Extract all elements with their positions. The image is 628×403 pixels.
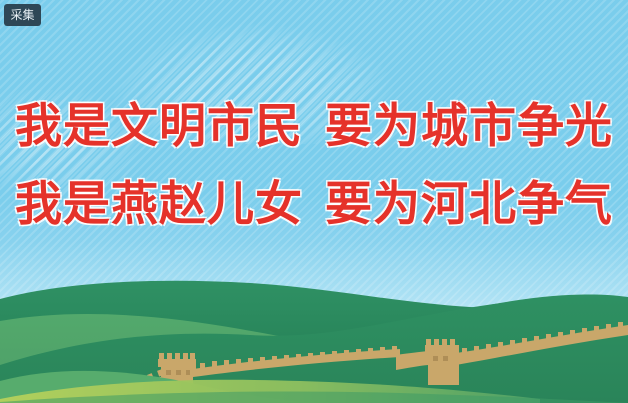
great-wall-tower-right [425,339,459,385]
landscape-illustration [0,273,628,403]
slogan-line-2: 我是燕赵儿女要为河北争气 [0,166,628,244]
slogan-line-1: 我是文明市民要为城市争光 [0,88,628,166]
capture-button[interactable]: 采集 [4,4,41,26]
slogan-line-1-left: 我是文明市民 [15,99,303,154]
poster-canvas: 我是文明市民要为城市争光 我是燕赵儿女要为河北争气 [0,0,628,403]
slogan-line-1-right: 要为城市争光 [325,99,613,154]
slogan-line-2-right: 要为河北争气 [325,177,613,232]
slogan-block: 我是文明市民要为城市争光 我是燕赵儿女要为河北争气 [0,88,628,244]
slogan-line-2-left: 我是燕赵儿女 [15,177,303,232]
